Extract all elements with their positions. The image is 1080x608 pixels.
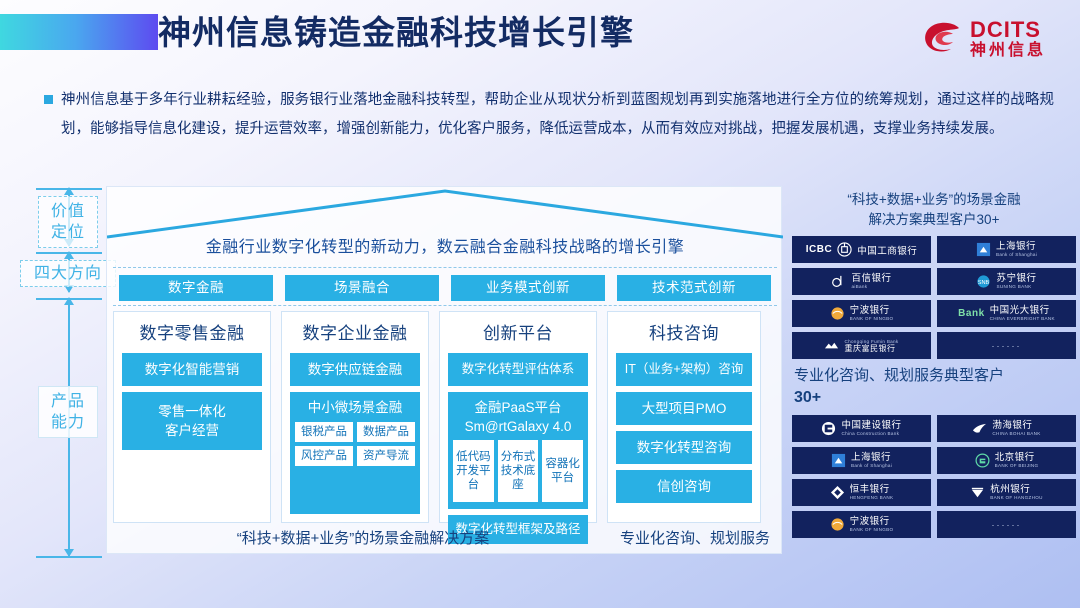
- separator-bottom: [113, 305, 777, 306]
- group-sme-scenario-finance: 中小微场景金融 银税产品 数据产品 风控产品 资产导流: [290, 392, 420, 514]
- direction-box-4[interactable]: 技术范式创新: [617, 275, 771, 301]
- axis-rule-bottom: [36, 556, 102, 558]
- logo-column-right-1: 上海银行 Bank of Shanghai SNB 苏宁银行 SUNING BA…: [937, 236, 1076, 359]
- everbright-name-cn: 中国光大银行: [990, 306, 1055, 316]
- ccb-icon: [821, 421, 836, 436]
- aibank-name-en: aiBank: [851, 285, 891, 290]
- card-it-consulting[interactable]: IT（业务+架构）咨询: [616, 353, 752, 386]
- group-financial-paas: 金融PaaS平台 Sm@rtGalaxy 4.0 低代码开发平台 分布式技术底座…: [448, 392, 588, 509]
- logo-tile-hangzhou: 杭州银行 BANK OF HANGZHOU: [937, 479, 1076, 506]
- logo-column-right-2: 渤海银行 CHINA BOHAI BANK 北京银行 BANK OF BEIJI…: [937, 415, 1076, 538]
- roof-shape-icon: [107, 187, 783, 239]
- everbright-text: 中国光大银行 CHINA EVERBRIGHT BANK: [990, 306, 1055, 322]
- logo-grid-group2: 中国建设银行 China Construction Bank 上海银行 Bank…: [792, 415, 1076, 538]
- separator-top: [113, 267, 777, 268]
- hengfeng-text: 恒丰银行 HENGFENG BANK: [850, 485, 894, 501]
- svg-text:SNB: SNB: [978, 280, 990, 286]
- aibank-icon: [831, 274, 846, 289]
- fumin-text: Chongqing Fumin Bank 重庆富民银行: [844, 338, 898, 352]
- beijing-icon: [975, 453, 990, 468]
- icbc-wordmark: ICBC: [806, 244, 832, 255]
- logo-tile-ccb: 中国建设银行 China Construction Bank: [792, 415, 931, 442]
- ningbo-name-cn-2: 宁波银行: [850, 517, 894, 527]
- beijing-name-cn: 北京银行: [995, 453, 1039, 463]
- hangzhou-icon: [970, 485, 985, 500]
- shanghai-name-cn-2: 上海银行: [851, 453, 892, 463]
- chip-row-paas: 低代码开发平台 分布式技术底座 容器化平台: [453, 440, 583, 502]
- hengfeng-icon: [830, 485, 845, 500]
- chip-row-2: 风控产品 资产导流: [295, 446, 415, 466]
- card-transformation-assessment[interactable]: 数字化转型评估体系: [448, 353, 588, 386]
- column-title-innovation: 创新平台: [448, 318, 588, 347]
- main-tagline: 金融行业数字化转型的新动力，数云融合金融科技战略的增长引擎: [107, 233, 783, 257]
- card-digital-marketing[interactable]: 数字化智能营销: [122, 353, 262, 386]
- shanghai-name-en-1: Bank of Shanghai: [996, 253, 1037, 258]
- ccb-name-cn: 中国建设银行: [841, 421, 901, 431]
- intro-paragraph: 神州信息基于多年行业耕耘经验，服务银行业落地金融科技转型，帮助企业从现状分析到蓝…: [44, 86, 1054, 144]
- chip-lowcode-platform[interactable]: 低代码开发平台: [453, 440, 494, 502]
- logo-tile-ningbo: 宁波银行 BANK OF NINGBO: [792, 300, 931, 327]
- logo-tile-more-1: ······: [937, 332, 1076, 359]
- card-supply-chain-finance[interactable]: 数字供应链金融: [290, 353, 420, 386]
- caption-consulting-service: 专业化咨询、规划服务: [613, 527, 777, 548]
- card-xinchuang-consulting[interactable]: 信创咨询: [616, 470, 752, 503]
- shanghai-name-cn-1: 上海银行: [996, 242, 1037, 252]
- suning-name-cn: 苏宁银行: [996, 274, 1036, 284]
- everbright-wordmark: Bank: [958, 308, 984, 319]
- aibank-name-cn: 百信银行: [851, 274, 891, 284]
- shanghai-icon: [976, 242, 991, 257]
- card-transformation-consulting[interactable]: 数字化转型咨询: [616, 431, 752, 464]
- title-accent-bar: [0, 14, 158, 50]
- chip-tax-product[interactable]: 银税产品: [295, 422, 353, 442]
- ningbo-text-2: 宁波银行 BANK OF NINGBO: [850, 517, 894, 533]
- page-title: 神州信息铸造金融科技增长引擎: [158, 8, 634, 58]
- group-title-sme: 中小微场景金融: [295, 398, 415, 417]
- logo-tile-hengfeng: 恒丰银行 HENGFENG BANK: [792, 479, 931, 506]
- dcits-logo: DCITS 神州信息: [923, 14, 1046, 64]
- axis-label-capability: 产品 能力: [38, 386, 98, 438]
- shanghai-text-2: 上海银行 Bank of Shanghai: [851, 453, 892, 469]
- logo-tile-icbc: ICBC 中国工商银行: [792, 236, 931, 263]
- chip-risk-product[interactable]: 风控产品: [295, 446, 353, 466]
- chip-row-1: 银税产品 数据产品: [295, 422, 415, 442]
- customer-heading-group2: 专业化咨询、规划服务典型客户 30+: [792, 359, 1076, 415]
- hengfeng-name-en: HENGFENG BANK: [850, 496, 894, 501]
- column-title-consulting: 科技咨询: [616, 318, 752, 347]
- caption-scenario-finance: “科技+数据+业务”的场景金融解决方案: [113, 527, 613, 548]
- bohai-icon: [972, 421, 987, 436]
- card-retail-integration-l2: 客户经营: [126, 421, 258, 440]
- direction-box-3[interactable]: 业务模式创新: [451, 275, 605, 301]
- logo-tile-ningbo-2: 宁波银行 BANK OF NINGBO: [792, 511, 931, 538]
- logo-grid-group1: ICBC 中国工商银行 百信银行 aiBank 宁波银行 BANK OF NIN…: [792, 236, 1076, 359]
- chip-data-product[interactable]: 数据产品: [357, 422, 415, 442]
- main-diagram-panel: 金融行业数字化转型的新动力，数云融合金融科技战略的增长引擎 数字金融 场景融合 …: [106, 186, 782, 554]
- product-column-innovation: 创新平台 数字化转型评估体系 金融PaaS平台 Sm@rtGalaxy 4.0 …: [439, 311, 597, 523]
- shanghai-text-1: 上海银行 Bank of Shanghai: [996, 242, 1037, 258]
- chip-distributed-base[interactable]: 分布式技术底座: [498, 440, 539, 502]
- four-directions-row: 数字金融 场景融合 业务模式创新 技术范式创新: [119, 275, 771, 301]
- ningbo-text: 宁波银行 BANK OF NINGBO: [850, 306, 894, 322]
- axis-label-directions: 四大方向: [20, 260, 116, 287]
- bohai-name-en: CHINA BOHAI BANK: [992, 432, 1040, 437]
- beijing-text: 北京银行 BANK OF BEIJING: [995, 453, 1039, 469]
- logo-wordmark-en: DCITS: [970, 19, 1046, 41]
- customer-logo-panel: “科技+数据+业务”的场景金融 解决方案典型客户30+ ICBC 中国工商银行 …: [792, 186, 1076, 554]
- group-title-paas: 金融PaaS平台 Sm@rtGalaxy 4.0: [453, 398, 583, 436]
- logo-tile-shanghai-1: 上海银行 Bank of Shanghai: [937, 236, 1076, 263]
- chip-container-platform[interactable]: 容器化平台: [542, 440, 583, 502]
- logo-column-left-2: 中国建设银行 China Construction Bank 上海银行 Bank…: [792, 415, 931, 538]
- ningbo-name-en: BANK OF NINGBO: [850, 317, 894, 322]
- suning-text: 苏宁银行 SUNING BANK: [996, 274, 1036, 290]
- axis-label-capability-l1: 产品: [45, 391, 91, 412]
- customer-heading-group1-l1: “科技+数据+业务”的场景金融: [794, 190, 1074, 210]
- ccb-name-en: China Construction Bank: [841, 432, 901, 437]
- direction-box-1[interactable]: 数字金融: [119, 275, 273, 301]
- bohai-name-cn: 渤海银行: [992, 421, 1040, 431]
- axis-label-capability-l2: 能力: [45, 412, 91, 433]
- card-retail-integration-l1: 零售一体化: [126, 402, 258, 421]
- fumin-icon: [824, 338, 839, 353]
- hengfeng-name-cn: 恒丰银行: [850, 485, 894, 495]
- icbc-icon: [837, 242, 852, 257]
- logo-tile-fumin: Chongqing Fumin Bank 重庆富民银行: [792, 332, 931, 359]
- logo-tile-bohai: 渤海银行 CHINA BOHAI BANK: [937, 415, 1076, 442]
- axis-label-directions-l1: 四大方向: [25, 263, 111, 284]
- axis-label-value-l2: 定位: [45, 222, 91, 243]
- customer-heading-group1: “科技+数据+业务”的场景金融 解决方案典型客户30+: [792, 186, 1076, 236]
- ningbo-name-en-2: BANK OF NINGBO: [850, 528, 894, 533]
- chip-asset-routing[interactable]: 资产导流: [357, 446, 415, 466]
- ccb-text: 中国建设银行 China Construction Bank: [841, 421, 901, 437]
- hangzhou-name-cn: 杭州银行: [990, 485, 1043, 495]
- customer-heading-group1-l2: 解决方案典型客户30+: [794, 210, 1074, 230]
- fumin-name-cn: 重庆富民银行: [844, 345, 898, 353]
- column-title-retail: 数字零售金融: [122, 318, 262, 347]
- group-title-paas-l1: 金融PaaS平台: [453, 398, 583, 417]
- dcits-swoosh-icon: [923, 21, 963, 57]
- icbc-name-cn: 中国工商银行: [857, 243, 917, 257]
- product-columns: 数字零售金融 数字化智能营销 零售一体化 客户经营 数字企业金融 数字供应链金融…: [113, 311, 777, 523]
- bohai-text: 渤海银行 CHINA BOHAI BANK: [992, 421, 1040, 437]
- everbright-name-en: CHINA EVERBRIGHT BANK: [990, 317, 1055, 322]
- page-header: 神州信息铸造金融科技增长引擎 DCITS 神州信息: [0, 0, 1080, 78]
- customer-heading-group2-l1: 专业化咨询、规划服务典型客户: [794, 365, 1074, 387]
- ningbo-name-cn: 宁波银行: [850, 306, 894, 316]
- card-retail-integration[interactable]: 零售一体化 客户经营: [122, 392, 262, 450]
- logo-tile-suning: SNB 苏宁银行 SUNING BANK: [937, 268, 1076, 295]
- product-column-retail: 数字零售金融 数字化智能营销 零售一体化 客户经营: [113, 311, 271, 523]
- shanghai-name-en-2: Bank of Shanghai: [851, 464, 892, 469]
- bullet-icon: [44, 95, 53, 104]
- axis-label-value-l1: 价值: [45, 201, 91, 222]
- hangzhou-name-en: BANK OF HANGZHOU: [990, 496, 1043, 501]
- intro-text: 神州信息基于多年行业耕耘经验，服务银行业落地金融科技转型，帮助企业从现状分析到蓝…: [61, 86, 1054, 144]
- card-large-project-pmo[interactable]: 大型项目PMO: [616, 392, 752, 425]
- axis-label-value: 价值 定位: [38, 196, 98, 248]
- logo-tile-more-2: ······: [937, 511, 1076, 538]
- suning-name-en: SUNING BANK: [996, 285, 1036, 290]
- logo-tile-aibank: 百信银行 aiBank: [792, 268, 931, 295]
- group-title-paas-l2: Sm@rtGalaxy 4.0: [453, 417, 583, 436]
- product-column-enterprise: 数字企业金融 数字供应链金融 中小微场景金融 银税产品 数据产品 风控产品 资产…: [281, 311, 429, 523]
- shanghai-icon: [831, 453, 846, 468]
- ningbo-icon: [830, 517, 845, 532]
- column-title-enterprise: 数字企业金融: [290, 318, 420, 347]
- hangzhou-text: 杭州银行 BANK OF HANGZHOU: [990, 485, 1043, 501]
- logo-tile-everbright: Bank 中国光大银行 CHINA EVERBRIGHT BANK: [937, 300, 1076, 327]
- customer-heading-group2-l2: 30+: [794, 387, 1074, 409]
- product-column-consulting: 科技咨询 IT（业务+架构）咨询 大型项目PMO 数字化转型咨询 信创咨询: [607, 311, 761, 523]
- logo-tile-shanghai-2: 上海银行 Bank of Shanghai: [792, 447, 931, 474]
- direction-box-2[interactable]: 场景融合: [285, 275, 439, 301]
- logo-column-left-1: ICBC 中国工商银行 百信银行 aiBank 宁波银行 BANK OF NIN…: [792, 236, 931, 359]
- logo-tile-beijing: 北京银行 BANK OF BEIJING: [937, 447, 1076, 474]
- suning-icon: SNB: [976, 274, 991, 289]
- logo-wordmark-cn: 神州信息: [970, 43, 1046, 59]
- logo-text: DCITS 神州信息: [970, 19, 1046, 59]
- beijing-name-en: BANK OF BEIJING: [995, 464, 1039, 469]
- aibank-text: 百信银行 aiBank: [851, 274, 891, 290]
- ningbo-icon: [830, 306, 845, 321]
